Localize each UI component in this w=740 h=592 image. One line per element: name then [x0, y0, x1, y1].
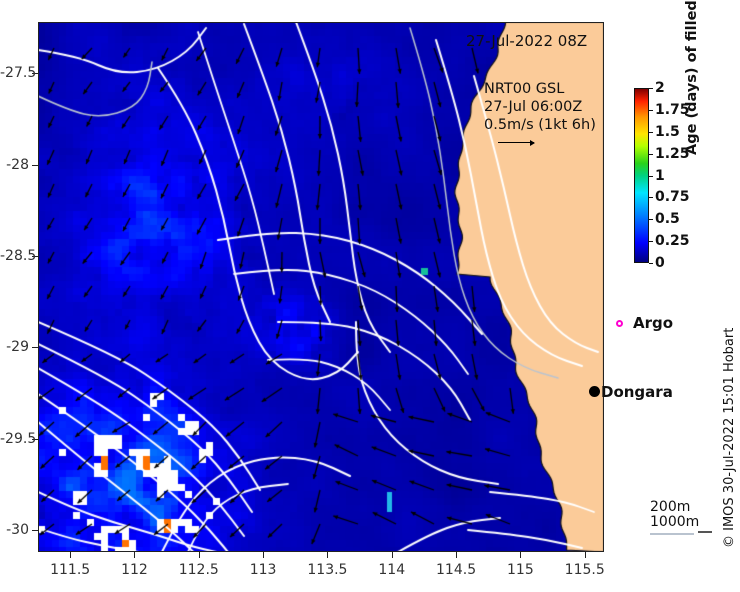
colorbar-tick	[649, 197, 653, 198]
argo-marker-icon	[616, 320, 623, 327]
colorbar-tick	[649, 263, 653, 264]
colorbar-tick	[649, 88, 653, 89]
velocity-time: 27-Jul 06:00Z	[484, 98, 596, 116]
colorbar-tick-label: 1	[655, 168, 665, 184]
x-tick	[456, 552, 457, 558]
figure-root: 27-Jul-2022 08Z NRT00 GSL 27-Jul 06:00Z …	[0, 0, 740, 592]
colorbar-tick	[649, 154, 653, 155]
x-tick	[263, 552, 264, 558]
x-tick	[327, 552, 328, 558]
x-tick	[199, 552, 200, 558]
depth-1000-sample	[698, 531, 712, 533]
y-tick-label: -29	[0, 339, 29, 355]
x-tick-label: 113	[250, 562, 277, 578]
y-tick-label: -30	[0, 522, 29, 538]
depth-1000-label: 1000m	[650, 515, 699, 530]
x-tick-label: 111.5	[50, 562, 90, 578]
x-tick	[585, 552, 586, 558]
depth-200-sample	[650, 533, 694, 535]
y-tick	[32, 165, 38, 166]
colorbar-tick	[649, 241, 653, 242]
right-arrow-icon	[498, 142, 534, 143]
x-tick-label: 112	[121, 562, 148, 578]
x-tick	[70, 552, 71, 558]
x-tick	[134, 552, 135, 558]
colorbar-tick-label: 0	[655, 255, 665, 271]
x-tick	[392, 552, 393, 558]
y-tick	[32, 347, 38, 348]
y-tick-label: -29.5	[0, 431, 29, 447]
velocity-arrow	[484, 134, 596, 150]
colorbar-tick	[649, 219, 653, 220]
y-tick-label: -28	[0, 157, 29, 173]
velocity-scale: 0.5m/s (1kt 6h)	[484, 116, 596, 134]
velocity-legend: NRT00 GSL 27-Jul 06:00Z 0.5m/s (1kt 6h)	[484, 80, 596, 150]
colorbar-tick-label: 0.25	[655, 233, 690, 249]
depth-contour-legend: 200m 1000m	[650, 500, 699, 530]
velocity-source: NRT00 GSL	[484, 80, 596, 98]
y-tick	[32, 530, 38, 531]
x-tick-label: 113.5	[307, 562, 347, 578]
argo-legend-label: Argo	[633, 314, 673, 332]
colorbar-tick-label: 1.5	[655, 124, 680, 140]
colorbar-tick-label: 2	[655, 80, 665, 96]
colorbar-tick-label: 0.5	[655, 211, 680, 227]
x-tick	[520, 552, 521, 558]
y-tick-label: -28.5	[0, 248, 29, 264]
x-tick-label: 114	[378, 562, 405, 578]
colorbar-tick	[649, 176, 653, 177]
x-tick-label: 112.5	[179, 562, 219, 578]
colorbar-tick	[649, 110, 653, 111]
dongara-label: Dongara	[601, 383, 673, 401]
x-tick-label: 115	[507, 562, 534, 578]
date-stamp: 27-Jul-2022 08Z	[466, 32, 587, 50]
depth-200-label: 200m	[650, 500, 699, 515]
colorbar-tick	[649, 132, 653, 133]
x-tick-label: 115.5	[565, 562, 605, 578]
dongara-marker-icon	[589, 386, 600, 397]
colorbar	[634, 88, 649, 263]
x-tick-label: 114.5	[436, 562, 476, 578]
y-tick-label: -27.5	[0, 65, 29, 81]
credit-text: © IMOS 30-Jul-2022 15:01 Hobart	[722, 328, 737, 548]
colorbar-tick-label: 0.75	[655, 189, 690, 205]
colorbar-title: Age (days) of filled SST (wrt latest)	[684, 0, 700, 155]
